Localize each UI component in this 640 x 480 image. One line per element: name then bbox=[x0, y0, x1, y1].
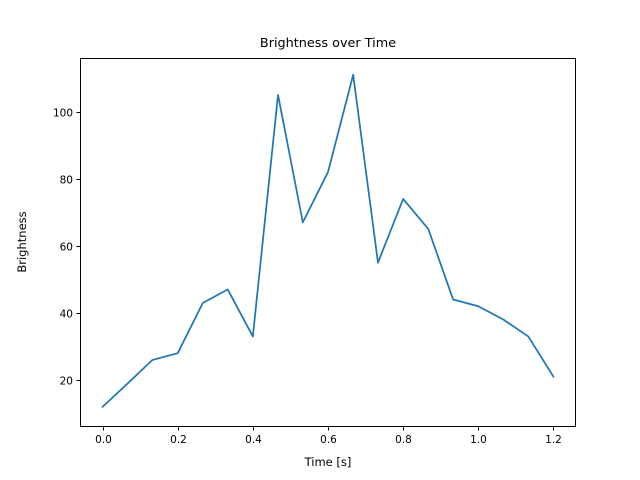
figure-canvas: 0.00.20.40.60.81.01.2 20406080100 Bright… bbox=[0, 0, 640, 480]
line-chart: 0.00.20.40.60.81.01.2 20406080100 Bright… bbox=[0, 0, 640, 480]
axes-background bbox=[80, 58, 576, 427]
x-tick-label: 0.8 bbox=[395, 434, 412, 446]
page-title: Brightness over Time bbox=[260, 36, 396, 51]
x-tick-label: 0.2 bbox=[170, 434, 187, 446]
y-tick-label: 40 bbox=[60, 308, 73, 320]
x-axis-ticks: 0.00.20.40.60.81.01.2 bbox=[95, 427, 562, 446]
x-tick-label: 0.0 bbox=[95, 434, 112, 446]
x-tick-label: 1.2 bbox=[545, 434, 562, 446]
y-axis-label: Brightness bbox=[15, 211, 29, 272]
y-tick-label: 80 bbox=[60, 174, 73, 186]
x-tick-label: 0.4 bbox=[245, 434, 262, 446]
y-axis-ticks: 20406080100 bbox=[53, 107, 80, 387]
x-tick-label: 0.6 bbox=[320, 434, 337, 446]
y-tick-label: 60 bbox=[60, 241, 73, 253]
y-tick-label: 20 bbox=[60, 375, 73, 387]
x-axis-label: Time [s] bbox=[304, 455, 352, 469]
y-tick-label: 100 bbox=[53, 107, 73, 119]
x-tick-label: 1.0 bbox=[470, 434, 487, 446]
